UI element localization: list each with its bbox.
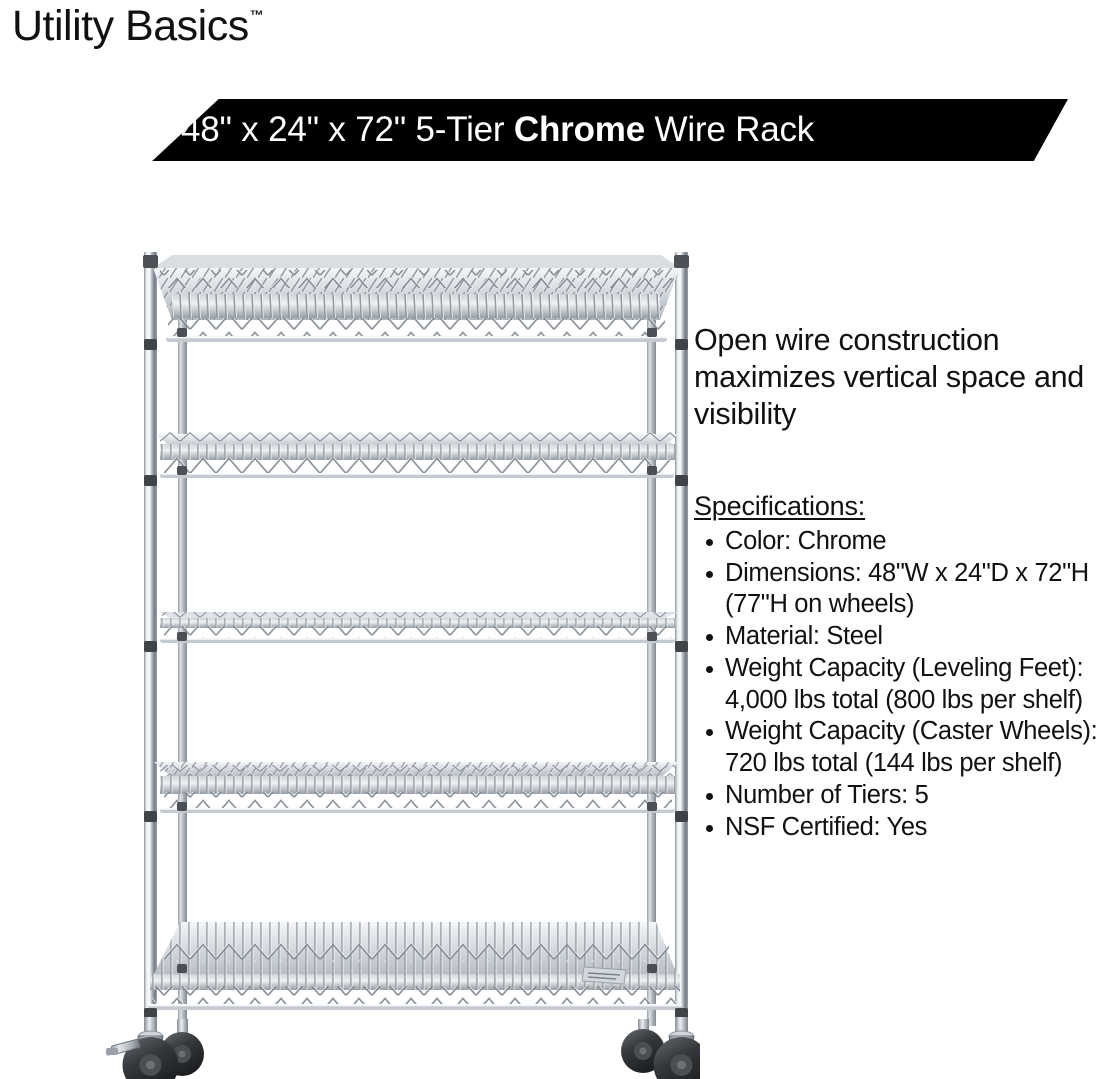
spec-item-label: Weight Capacity (Leveling Feet): 4,000 l… [725, 654, 1083, 714]
product-title-text: 48" x 24" x 72" 5-Tier Chrome Wire Rack [181, 112, 814, 147]
spec-item-material: Material: Steel [694, 621, 1108, 653]
banner-text-bold: Chrome [514, 110, 645, 149]
shelf-tier-4 [144, 762, 688, 822]
bullet-icon [706, 793, 713, 800]
spec-item-number-of-tiers: Number of Tiers: 5 [694, 780, 1108, 812]
bullet-icon [706, 825, 713, 832]
bullet-icon [706, 539, 713, 546]
bullet-icon [706, 729, 713, 736]
product-image-wire-rack [60, 222, 700, 1079]
shelf-tier-1 [143, 255, 689, 350]
spec-item-weight-capacity-caster-wheels: Weight Capacity (Caster Wheels): 720 lbs… [694, 716, 1108, 779]
specifications-list: Color: Chrome Dimensions: 48"W x 24"D x … [694, 526, 1108, 843]
spec-item-color: Color: Chrome [694, 526, 1108, 558]
product-label-tag [582, 967, 626, 984]
spec-item-dimensions: Dimensions: 48"W x 24"D x 72"H (77"H on … [694, 558, 1108, 621]
bullet-icon [706, 666, 713, 673]
shelf-tier-5 [144, 922, 688, 1020]
spec-item-label: NSF Certified: Yes [725, 813, 927, 841]
banner-text-suffix: Wire Rack [645, 110, 814, 149]
product-title-banner: 48" x 24" x 72" 5-Tier Chrome Wire Rack [118, 99, 1068, 161]
specifications-heading: Specifications: [694, 490, 1108, 522]
banner-text-prefix: 48" x 24" x 72" 5-Tier [181, 110, 514, 149]
feature-headline: Open wire construction maximizes vertica… [694, 322, 1108, 434]
spec-item-label: Material: Steel [725, 622, 883, 650]
trademark-symbol: ™ [250, 8, 264, 22]
brand-logo: Utility Basics ™ [12, 2, 264, 51]
spec-item-label: Color: Chrome [725, 527, 886, 555]
spec-item-label: Number of Tiers: 5 [725, 781, 928, 809]
specifications-block: Specifications: Color: Chrome Dimensions… [694, 490, 1108, 844]
bullet-icon [706, 634, 713, 641]
spec-item-label: Weight Capacity (Caster Wheels): 720 lbs… [725, 717, 1097, 777]
marketing-copy-column: Open wire construction maximizes vertica… [694, 322, 1108, 843]
bullet-icon [706, 571, 713, 578]
spec-item-label: Dimensions: 48"W x 24"D x 72"H (77"H on … [725, 559, 1089, 619]
brand-name: Utility Basics [12, 2, 249, 51]
spec-item-weight-capacity-leveling-feet: Weight Capacity (Leveling Feet): 4,000 l… [694, 653, 1108, 716]
shelf-tier-2 [144, 432, 688, 486]
spec-item-nsf-certified: NSF Certified: Yes [694, 812, 1108, 844]
